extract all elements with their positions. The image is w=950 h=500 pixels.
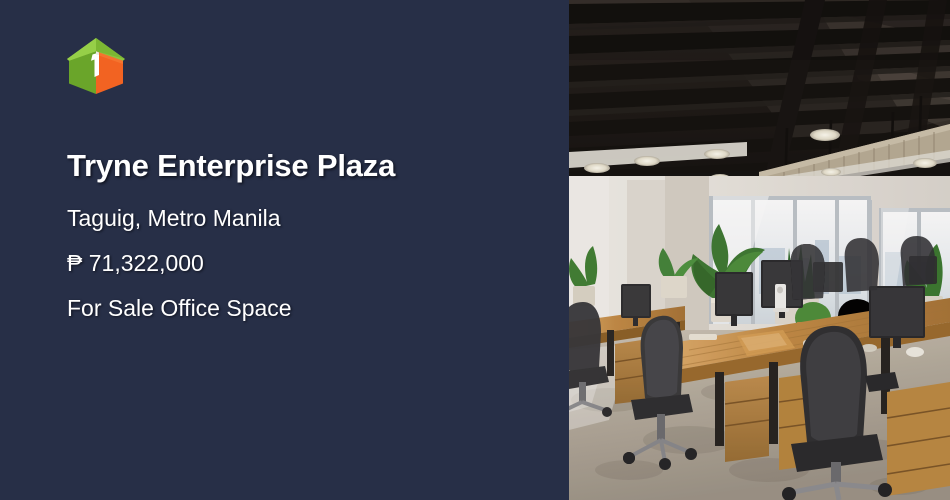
house-logo[interactable] (65, 34, 127, 98)
property-photo (569, 0, 950, 500)
listing-price: ₱ 71,322,000 (67, 248, 537, 279)
property-listing-card: Tryne Enterprise Plaza Taguig, Metro Man… (0, 0, 950, 500)
listing-location: Taguig, Metro Manila (67, 203, 537, 234)
listing-text-block: Tryne Enterprise Plaza Taguig, Metro Man… (67, 146, 537, 324)
office-interior-image (569, 0, 950, 500)
listing-info-panel: Tryne Enterprise Plaza Taguig, Metro Man… (0, 0, 569, 500)
house-logo-icon (65, 34, 127, 98)
page-title: Tryne Enterprise Plaza (67, 146, 537, 186)
listing-offer-type: For Sale Office Space (67, 293, 537, 324)
